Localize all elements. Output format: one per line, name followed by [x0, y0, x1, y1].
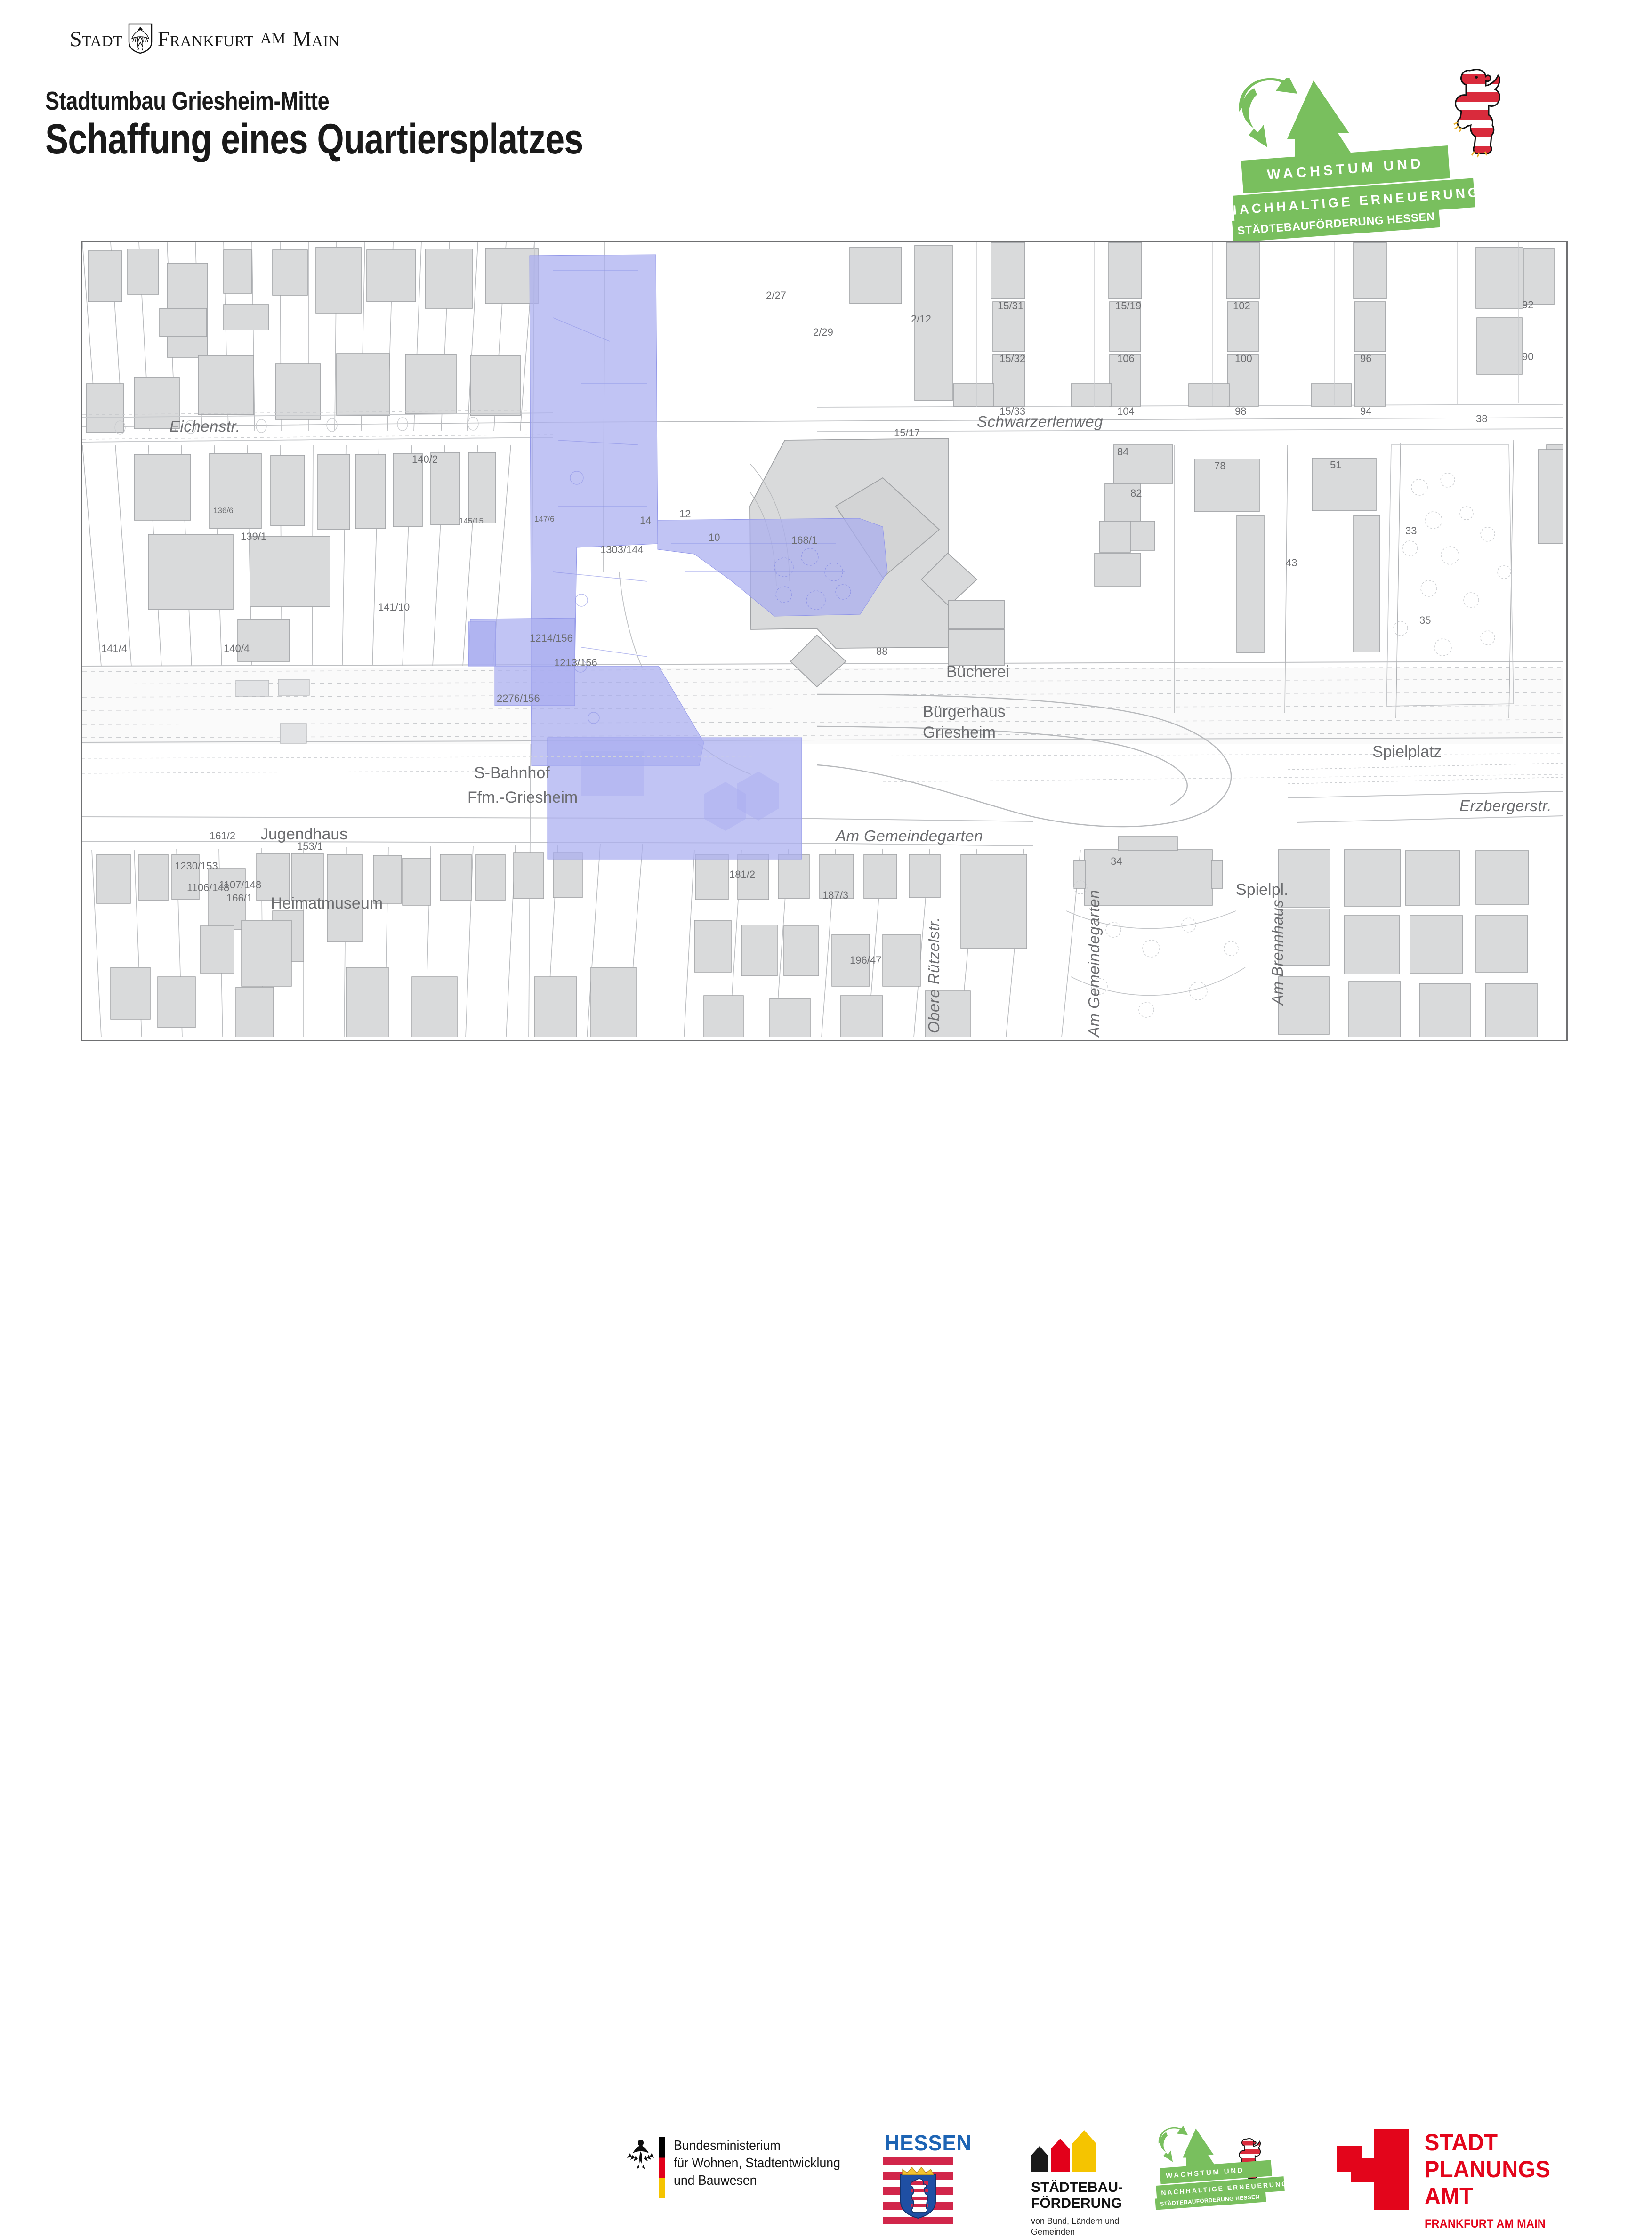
hessen-lion-icon — [1445, 66, 1507, 162]
city-logo-word-stadt: STADT — [70, 26, 123, 51]
city-logo-word-frankfurt: FRANKFURT — [158, 26, 254, 51]
bmwsb-logo: Bundesministerium für Wohnen, Stadtentwi… — [626, 2137, 855, 2198]
map-canvas — [82, 242, 1566, 1040]
staedtebau-title-line2: FÖRDERUNG — [1031, 2196, 1139, 2212]
house-black-icon — [1031, 2146, 1048, 2174]
hessen-logo: HESSEN — [883, 2130, 953, 2224]
spa-subline: FRANKFURT AM MAIN — [1425, 2217, 1551, 2231]
house-red-icon — [1051, 2139, 1070, 2174]
staedtebau-houses-icon — [1031, 2132, 1139, 2174]
spa-line1: STADT — [1425, 2129, 1551, 2156]
wachstum-logo-small: WACHSTUM UND NACHHALTIGE ERNEUERUNG STÄD… — [1163, 2130, 1314, 2210]
frankfurt-eagle-crest-icon — [128, 23, 153, 54]
city-logo-word-main: MAIN — [292, 26, 340, 51]
page-kicker: Stadtumbau Griesheim-Mitte — [45, 86, 329, 116]
hessen-coat-of-arms-icon — [883, 2157, 953, 2224]
stadtplanungsamt-logo: STADT PLANUNGS AMT FRANKFURT AM MAIN — [1337, 2129, 1559, 2231]
spa-line2: PLANUNGS — [1425, 2156, 1551, 2183]
city-logo-word-am: AM — [260, 30, 286, 48]
staedtebau-sub-line1: von Bund, Ländern und — [1031, 2216, 1139, 2227]
staedtebau-title-line1: STÄDTEBAU- — [1031, 2180, 1139, 2196]
german-flag-bar-icon — [659, 2137, 665, 2198]
hessen-wordmark: HESSEN — [885, 2130, 952, 2156]
spa-line3: AMT — [1425, 2183, 1551, 2210]
frankfurt-f-mark-icon — [1337, 2129, 1409, 2213]
city-logo: STADT FRANKFURT AM MAIN — [70, 24, 340, 53]
house-yellow-icon — [1072, 2130, 1096, 2174]
staedtebau-sub-line2: Gemeinden — [1031, 2227, 1139, 2237]
bmwsb-line2: für Wohnen, Stadtentwicklung — [674, 2155, 840, 2172]
bmwsb-line1: Bundesministerium — [674, 2137, 840, 2155]
staedtebaufoerderung-logo: STÄDTEBAU- FÖRDERUNG von Bund, Ländern u… — [1031, 2132, 1139, 2237]
wachstum-und-nachhaltige-erneuerung-logo: WACHSTUM UND NACHHALTIGE ERNEUERUNG STÄD… — [1238, 82, 1539, 233]
bmwsb-line3: und Bauwesen — [674, 2172, 840, 2189]
page-title: Schaffung eines Quartiersplatzes — [45, 115, 583, 164]
stadtplanungsamt-text: STADT PLANUNGS AMT FRANKFURT AM MAIN — [1425, 2129, 1559, 2231]
bundesadler-icon — [626, 2137, 655, 2171]
cadastral-map[interactable]: Eichenstr. Schwarzerlenweg Erzbergerstr.… — [81, 241, 1568, 1041]
bmwsb-text: Bundesministerium für Wohnen, Stadtentwi… — [674, 2137, 840, 2189]
footer-logo-bar: Bundesministerium für Wohnen, Stadtentwi… — [0, 1062, 1652, 1160]
